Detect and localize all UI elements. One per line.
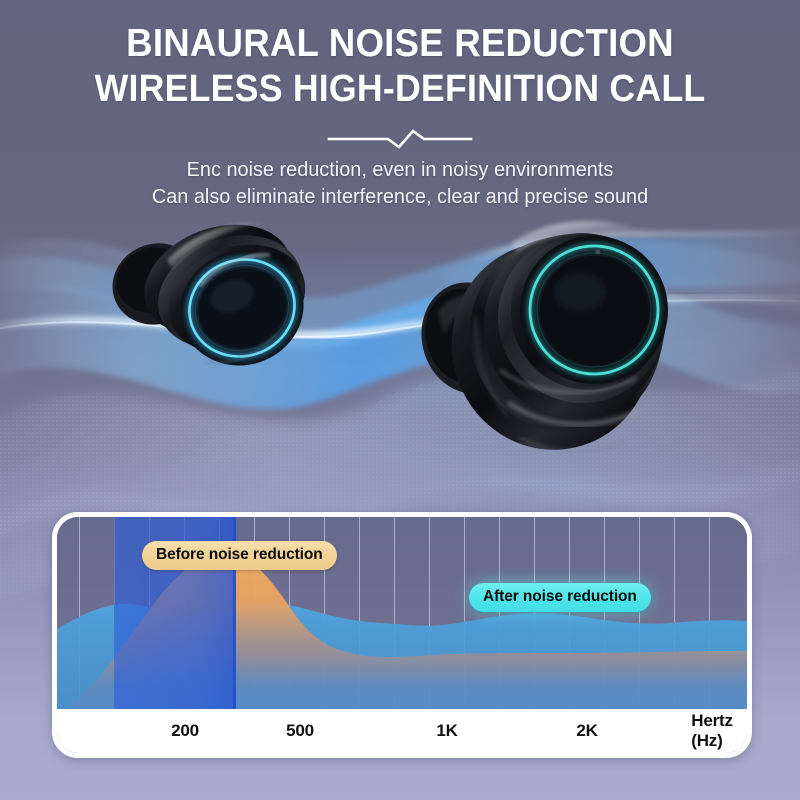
badge-before-noise-reduction: Before noise reduction	[142, 541, 337, 570]
badge-after-noise-reduction: After noise reduction	[469, 583, 651, 612]
earbud-left	[96, 208, 346, 418]
header: BINAURAL NOISE REDUCTION WIRELESS HIGH-D…	[0, 0, 800, 210]
axis-tick-200: 200	[171, 721, 199, 741]
axis-tick-500: 500	[286, 721, 314, 741]
product-poster: BINAURAL NOISE REDUCTION WIRELESS HIGH-D…	[0, 0, 800, 800]
frequency-response-chart: Before noise reduction After noise reduc…	[52, 512, 752, 758]
subtitle-line-1: Enc noise reduction, even in noisy envir…	[187, 158, 614, 181]
page-title: BINAURAL NOISE REDUCTION WIRELESS HIGH-D…	[24, 0, 776, 109]
headline-line-2: WIRELESS HIGH-DEFINITION CALL	[24, 64, 776, 109]
subtitle-line-2: Can also eliminate interference, clear a…	[12, 184, 788, 210]
axis-tick-1k: 1K	[436, 721, 457, 741]
subtitle: Enc noise reduction, even in noisy envir…	[12, 149, 788, 209]
axis-tick-2k: 2K	[576, 721, 597, 741]
chart-plot-area: Before noise reduction After noise reduc…	[57, 517, 747, 716]
chart-axis: 200 500 1K 2K Hertz (Hz)	[57, 709, 747, 753]
headline-line-1: BINAURAL NOISE REDUCTION	[24, 0, 776, 64]
earbud-right	[416, 206, 706, 472]
axis-title-hertz: Hertz (Hz)	[691, 711, 733, 751]
waveform-divider-icon	[325, 123, 475, 149]
